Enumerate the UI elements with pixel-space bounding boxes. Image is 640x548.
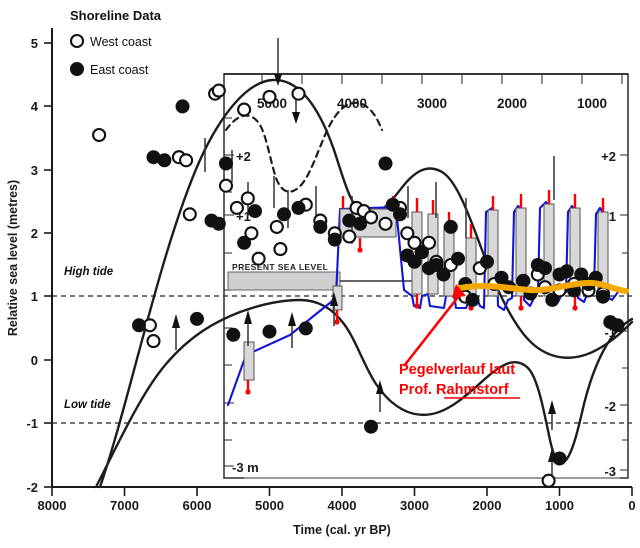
sea-level-chart: 5 4 3 2 1 0 -1 -2 Relative sea level (me… <box>0 0 640 548</box>
x-tick-label-5000: 5000 <box>255 498 284 513</box>
data-point <box>539 262 552 275</box>
data-point <box>394 208 407 221</box>
data-point <box>213 85 225 97</box>
legend-marker-east-coast-icon <box>71 63 84 76</box>
y-tick-label-1: 1 <box>31 289 38 304</box>
data-point <box>133 319 146 332</box>
data-point <box>380 218 392 230</box>
data-point <box>278 208 291 221</box>
data-point <box>274 243 286 255</box>
data-point <box>343 231 355 243</box>
data-point <box>365 420 378 433</box>
low-tide-label: Low tide <box>64 399 111 411</box>
inset-right-tick-plus2: +2 <box>601 149 616 164</box>
data-point <box>292 201 305 214</box>
data-point <box>560 265 573 278</box>
legend-label-east-coast: East coast <box>90 63 149 77</box>
data-point <box>249 205 262 218</box>
data-point <box>176 100 189 113</box>
data-point <box>220 180 232 192</box>
x-tick-label-1000: 1000 <box>545 498 574 513</box>
present-sea-level-band <box>228 272 340 290</box>
legend-title: Shoreline Data <box>70 8 162 23</box>
data-point <box>354 217 367 230</box>
data-point <box>158 154 171 167</box>
data-point <box>597 290 610 303</box>
data-point <box>271 221 283 233</box>
legend-marker-west-coast-icon <box>71 35 83 47</box>
inset-top-tick-1000: 1000 <box>577 96 607 111</box>
inset-right-tick-minus2: -2 <box>604 399 616 414</box>
data-point <box>231 202 243 214</box>
data-point <box>365 211 377 223</box>
data-point <box>546 293 559 306</box>
data-point <box>191 312 204 325</box>
data-point <box>238 104 250 116</box>
data-point <box>184 208 196 220</box>
data-point <box>253 253 265 265</box>
y-axis-title: Relative sea level (metres) <box>6 180 20 336</box>
annotation-line-1: Pegelverlauf laut <box>399 362 515 378</box>
data-box-5 <box>428 214 438 294</box>
legend-label-west-coast: West coast <box>90 35 152 49</box>
inset-top-tick-2000: 2000 <box>497 96 527 111</box>
data-point <box>293 88 305 100</box>
y-tick-label-3: 3 <box>31 163 38 178</box>
data-point <box>299 322 312 335</box>
data-point <box>452 252 465 265</box>
y-tick-label-2: 2 <box>31 226 38 241</box>
data-point <box>415 246 428 259</box>
data-point <box>611 319 624 332</box>
data-point <box>212 217 225 230</box>
data-point <box>481 255 494 268</box>
x-axis-title: Time (cal. yr BP) <box>293 523 391 537</box>
data-box-2 <box>244 342 254 380</box>
data-point <box>437 268 450 281</box>
data-point <box>466 293 479 306</box>
data-point <box>227 328 240 341</box>
y-tick-label-5: 5 <box>31 36 38 51</box>
data-point <box>543 475 555 487</box>
y-tick-label-neg2: -2 <box>26 480 38 495</box>
x-tick-label-8000: 8000 <box>38 498 67 513</box>
data-point <box>379 157 392 170</box>
data-point <box>180 154 192 166</box>
x-tick-label-3000: 3000 <box>400 498 429 513</box>
data-point <box>238 236 251 249</box>
data-point <box>517 274 530 287</box>
y-tick-label-0: 0 <box>31 353 38 368</box>
inset-right-tick-minus3: -3 <box>604 464 616 479</box>
present-sea-level-label: PRESENT SEA LEVEL <box>232 262 328 272</box>
data-point <box>93 129 105 141</box>
data-point <box>242 192 254 204</box>
y-tick-label-4: 4 <box>31 99 39 114</box>
inset-depth-label: -3 m <box>232 460 259 475</box>
data-point <box>314 220 327 233</box>
data-point <box>220 157 233 170</box>
annotation-line-2: Prof. Rahmstorf <box>399 382 509 398</box>
inset-top-tick-3000: 3000 <box>417 96 447 111</box>
data-point <box>328 233 341 246</box>
data-point <box>264 91 276 103</box>
data-point <box>444 220 457 233</box>
x-tick-label-0: 0 <box>628 498 635 513</box>
y-tick-label-neg1: -1 <box>26 416 38 431</box>
high-tide-label: High tide <box>64 266 114 278</box>
x-tick-label-4000: 4000 <box>328 498 357 513</box>
data-point <box>263 325 276 338</box>
inset-left-tick-plus2: +2 <box>236 149 251 164</box>
data-point <box>148 335 160 347</box>
x-tick-label-7000: 7000 <box>110 498 139 513</box>
figure-root: 5 4 3 2 1 0 -1 -2 Relative sea level (me… <box>0 0 640 548</box>
data-point <box>553 452 566 465</box>
x-tick-label-2000: 2000 <box>473 498 502 513</box>
x-tick-label-6000: 6000 <box>183 498 212 513</box>
